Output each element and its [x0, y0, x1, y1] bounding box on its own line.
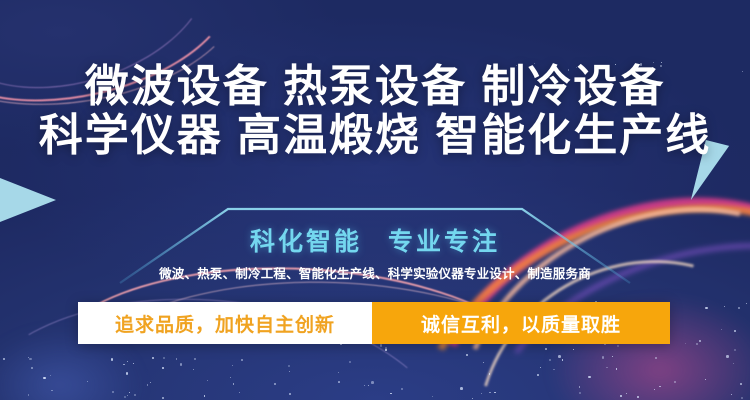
sparkle-dot: [553, 369, 554, 370]
sparkle-dot: [699, 340, 701, 342]
sparkle-dot: [233, 383, 235, 385]
sparkle-dot: [696, 343, 698, 345]
sparkle-dot: [738, 307, 740, 309]
sparkle-dot: [112, 391, 114, 393]
headline-line-2: 科学仪器 高温煅烧 智能化生产线: [0, 111, 750, 160]
sparkle-dot: [31, 367, 33, 369]
middle-description: 微波、热泵、制冷工程、智能化生产线、科学实验仪器专业设计、制造服务商: [0, 263, 750, 282]
sparkle-dot: [494, 392, 495, 393]
sparkle-dot: [545, 348, 547, 350]
sparkle-dot: [740, 383, 742, 385]
sparkle-dot: [734, 330, 736, 332]
sparkle-dot: [616, 368, 618, 370]
sparkle-dot: [371, 381, 374, 384]
sparkle-dot: [588, 376, 590, 378]
sparkle-dot: [289, 371, 290, 372]
sparkle-dot: [194, 358, 196, 360]
sparkle-dot: [617, 345, 619, 347]
sparkle-dot: [162, 367, 164, 369]
headline-line-1: 微波设备 热泵设备 制冷设备: [0, 62, 750, 111]
sparkle-dot: [654, 389, 655, 390]
slogan-bar: 追求品质，加快自主创新 诚信互利，以质量取胜: [78, 302, 670, 344]
sparkle-dot: [466, 354, 468, 356]
headline: 微波设备 热泵设备 制冷设备 科学仪器 高温煅烧 智能化生产线: [0, 62, 750, 161]
sparkle-dot: [562, 359, 564, 361]
sparkle-dot: [289, 393, 291, 395]
sparkle-dot: [180, 363, 182, 365]
sparkle-dot: [204, 395, 205, 396]
middle-slogan-b: 专业专注: [388, 228, 500, 256]
sparkle-dot: [579, 392, 581, 394]
sparkle-dot: [29, 358, 31, 360]
sparkle-dot: [230, 377, 231, 378]
slogan-left-button[interactable]: 追求品质，加快自主创新: [78, 302, 372, 344]
sparkle-dot: [549, 359, 551, 361]
sparkle-dot: [150, 382, 151, 383]
sparkle-dot: [741, 397, 743, 399]
middle-slogan-a: 科化智能: [250, 228, 362, 256]
sparkle-dot: [460, 387, 463, 390]
middle-slogan: 科化智能专业专注: [0, 222, 750, 258]
slogan-right-button[interactable]: 诚信互利，以质量取胜: [372, 302, 670, 344]
promo-banner: 微波设备 热泵设备 制冷设备 科学仪器 高温煅烧 智能化生产线 科化智能专业专注…: [0, 0, 750, 400]
sparkle-dot: [726, 355, 728, 357]
sparkle-dot: [338, 381, 340, 383]
sparkle-dot: [489, 373, 491, 375]
sparkle-dot: [51, 390, 53, 392]
sparkle-dot: [540, 367, 541, 368]
sparkle-dot: [558, 355, 561, 358]
sparkle-dot: [612, 356, 613, 357]
sparkle-dot: [724, 306, 725, 307]
